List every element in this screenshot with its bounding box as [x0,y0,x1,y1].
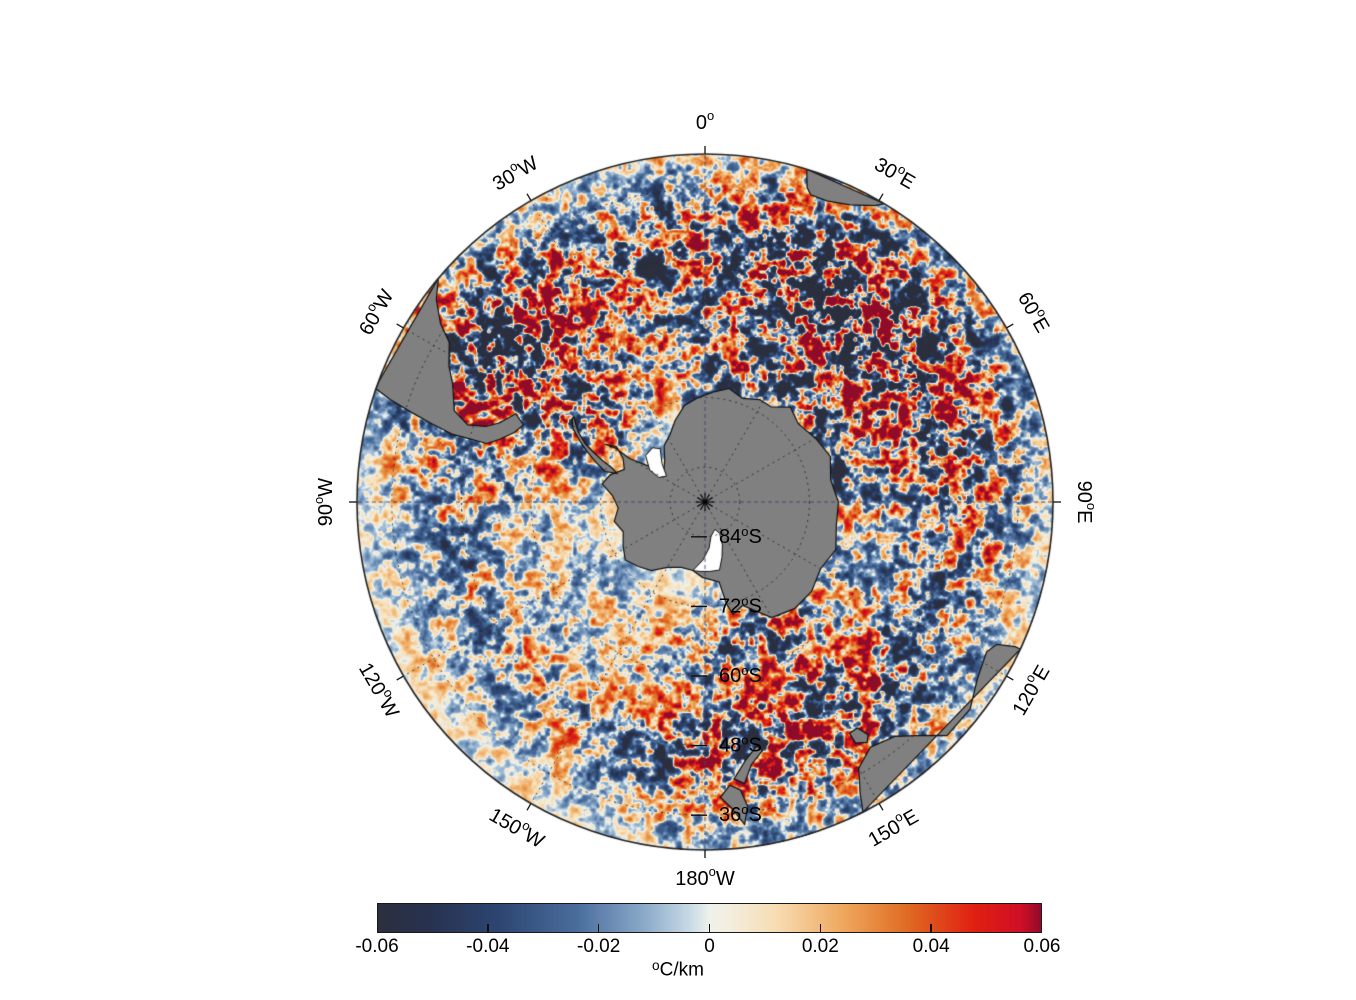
longitude-label: 90oW [311,478,337,526]
longitude-tick [879,194,883,201]
longitude-tick [397,676,404,680]
longitude-label: 150oE [863,802,923,851]
longitude-label: 0o [696,108,714,134]
colorbar-tick-label: 0.06 [982,936,1102,958]
colorbar-tick-label: 0.04 [871,936,991,958]
colorbar-tick [820,924,822,933]
latitude-label: 36oS [719,802,762,826]
longitude-label: 30oE [870,150,920,194]
colorbar-tick [487,924,489,933]
colorbar-tick-label: 0 [650,936,770,958]
longitude-label: 120oE [1005,660,1054,720]
longitude-label: 150oW [485,801,550,853]
longitude-tick [527,194,531,201]
longitude-label: 180oW [675,864,735,890]
longitude-tick [879,803,883,810]
figure-canvas: AVHRR Zonal Sea Surface Temperature Grad… [0,0,1356,1000]
longitude-tick [397,324,404,328]
colorbar-tick-marks [377,903,1042,933]
longitude-label: 60oW [352,284,399,339]
longitude-label: 90oE [1073,481,1099,524]
colorbar-tick-label: -0.04 [428,936,548,958]
latitude-label: 48oS [719,733,762,757]
longitude-label: 30oW [487,149,542,196]
latitude-label: 60oS [719,663,762,687]
latitude-label: 72oS [719,593,762,617]
colorbar-tick-label: -0.02 [539,936,659,958]
latitude-label: 84oS [719,524,762,548]
colorbar-tick-label: -0.06 [317,936,437,958]
colorbar-tick [930,924,932,933]
longitude-tick [1006,324,1013,328]
colorbar-tick [709,924,711,933]
colorbar-tick-label: 0.02 [760,936,880,958]
map-graticule-overlay: 0o30oE60oE90oE120oE150oE180oW150oW120oW9… [0,0,1356,1000]
longitude-label: 120oW [354,657,406,722]
colorbar-tick [598,924,600,933]
longitude-tick [1006,676,1013,680]
longitude-label: 60oE [1013,287,1057,337]
longitude-tick [527,803,531,810]
colorbar-unit-label: oC/km [0,958,1356,982]
